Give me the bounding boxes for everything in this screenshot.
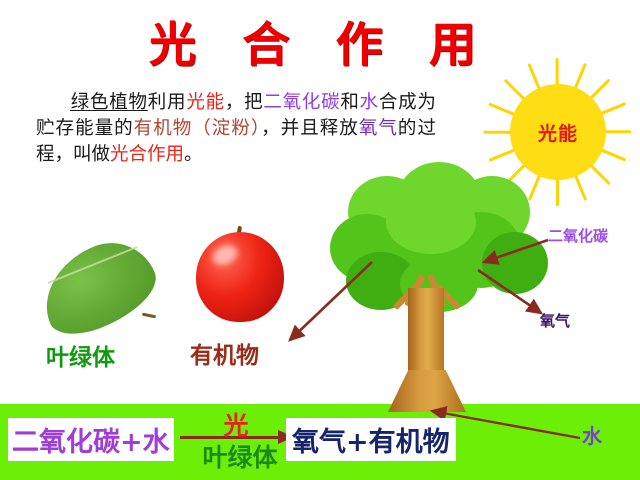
caption-organic-matter: 有机物 — [190, 336, 259, 370]
term-oxygen: 氧气 — [359, 118, 398, 139]
paragraph-text-2: 利用 — [148, 92, 187, 113]
leaf-body — [30, 229, 167, 345]
term-light-energy: 光能 — [186, 92, 225, 113]
canopy-blob — [386, 190, 476, 254]
tree-trunk-base — [388, 370, 466, 412]
paragraph-text-14: 。 — [184, 144, 203, 165]
leaf-stem — [142, 313, 156, 319]
paragraph-text-10: ，并且释放 — [261, 118, 359, 139]
label-carbon-dioxide: 二氧化碳 — [548, 225, 608, 246]
equation-condition-chloroplast: 叶绿体 — [180, 438, 300, 474]
label-oxygen: 氧气 — [540, 310, 570, 331]
definition-paragraph: 绿色植物利用光能，把二氧化碳和水合成为贮存能量的有机物（淀粉），并且释放氧气的过… — [36, 90, 436, 168]
equation-reactants: 二氧化碳+水 — [8, 418, 174, 461]
apple-body — [196, 232, 284, 322]
term-photosynthesis: 光合作用 — [110, 144, 184, 165]
label-water: 水 — [582, 420, 602, 449]
term-organic-matter: 有机物（淀粉） — [134, 118, 262, 139]
apple-photo — [190, 218, 290, 330]
term-water: 水 — [360, 92, 379, 113]
slide-canvas: 光 合 作 用 绿色植物利用光能，把二氧化碳和水合成为贮存能量的有机物（淀粉），… — [0, 0, 640, 480]
paragraph-text-4: ，把 — [225, 92, 264, 113]
term-carbon-dioxide: 二氧化碳 — [263, 92, 340, 113]
paragraph-text-6: 和 — [340, 92, 359, 113]
leaf-photo — [34, 238, 160, 336]
equation-condition-light: 光 — [206, 406, 266, 442]
canopy-blob — [482, 232, 548, 294]
term-green-plant: 绿色植物 — [70, 92, 148, 113]
equation-products: 氧气+有机物 — [286, 418, 456, 461]
photosynthesis-equation: 二氧化碳+水 光 叶绿体 氧气+有机物 — [8, 412, 468, 474]
tree-illustration — [330, 160, 560, 420]
caption-chloroplast: 叶绿体 — [46, 338, 115, 372]
